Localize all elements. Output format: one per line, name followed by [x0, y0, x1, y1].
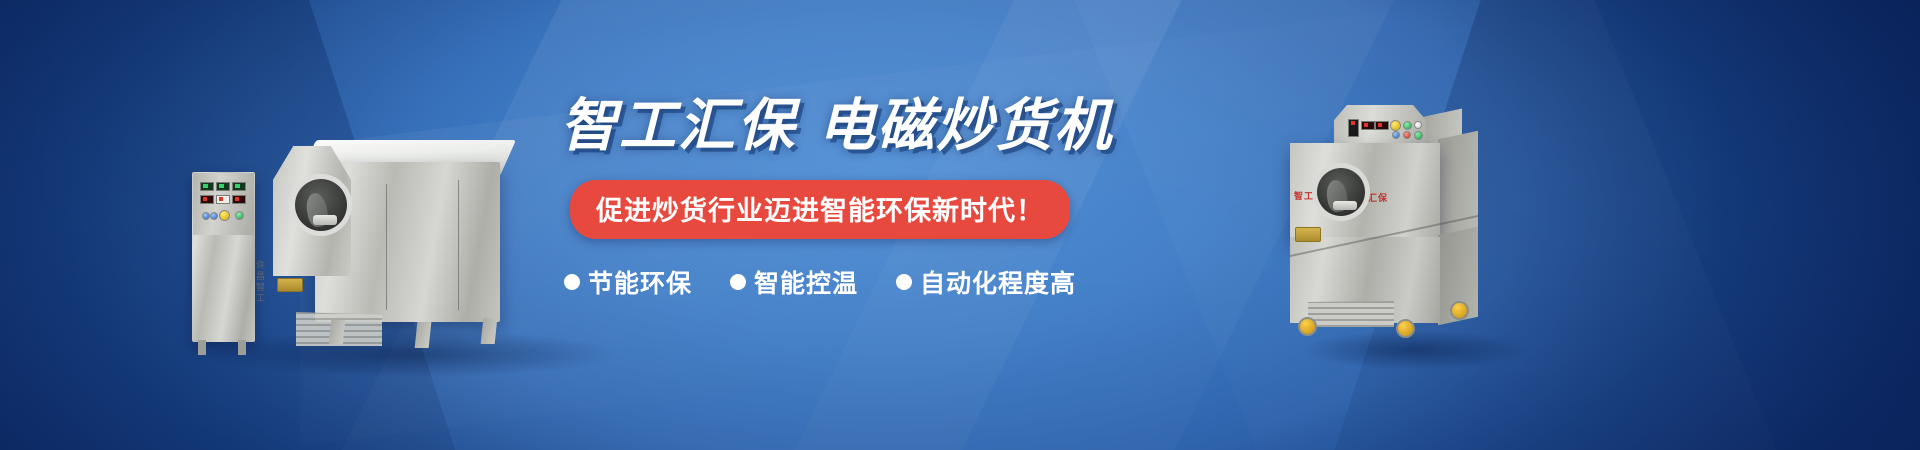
panel-display-4	[200, 195, 214, 204]
right-panel-emergency-knob	[1390, 120, 1401, 131]
feature-list: 节能环保 智能控温 自动化程度高	[560, 264, 1080, 300]
feature-item: 节能环保	[564, 264, 692, 300]
bullet-dot-icon	[564, 274, 580, 290]
panel-display-3	[232, 182, 246, 191]
panel-display-5	[216, 195, 230, 204]
feature-label: 自动化程度高	[920, 264, 1076, 300]
feature-label: 智能控温	[754, 264, 858, 300]
left-cabinet-leg-2	[238, 340, 246, 355]
panel-emergency-knob	[219, 210, 230, 221]
left-machine-drum-pan	[313, 215, 337, 225]
right-machine-photo: 智工 汇保	[1290, 105, 1510, 355]
bullet-dot-icon	[730, 274, 746, 290]
right-machine-control-housing	[1334, 105, 1426, 145]
left-machine-door-seam-1	[386, 184, 387, 310]
right-machine-vents	[1308, 301, 1394, 327]
right-machine-body-side	[1438, 131, 1478, 244]
left-machine-foot-3	[481, 318, 498, 344]
panel-button-blue-1	[202, 212, 210, 220]
bullet-dot-icon	[896, 274, 912, 290]
promo-banner: 智工 汇保 许昌智工 智工汇保电磁炒货机	[0, 0, 1920, 450]
feature-item: 智能控温	[730, 264, 858, 300]
left-machine-foot-2	[415, 322, 432, 348]
left-machine-drum-opening	[290, 174, 352, 236]
feature-label: 节能环保	[588, 264, 692, 300]
right-machine-drum-opening	[1312, 163, 1370, 221]
right-panel-display-main	[1348, 119, 1359, 137]
panel-display-1	[200, 182, 214, 191]
left-machine-door-seam-2	[458, 180, 459, 310]
right-machine-nameplate	[1295, 227, 1321, 242]
headline-part-2: 电磁炒货机	[818, 94, 1113, 158]
headline-part-1: 智工汇保	[560, 94, 796, 158]
right-machine-caster-3	[1450, 301, 1469, 320]
right-panel-button-blue-1	[1392, 131, 1400, 139]
right-machine-brand-left: 智工	[1294, 189, 1314, 202]
left-machine-nameplate	[277, 278, 303, 292]
right-panel-button-green-2	[1414, 131, 1423, 140]
right-panel-button-white	[1414, 121, 1422, 129]
right-panel-button-green-1	[1403, 121, 1412, 130]
right-machine-caster-2	[1396, 319, 1415, 338]
right-machine-drum-interior	[1317, 168, 1365, 216]
left-machine-photo: 智工 汇保 许昌智工	[180, 100, 600, 360]
feature-item: 自动化程度高	[896, 264, 1076, 300]
right-panel-display-2	[1375, 121, 1389, 130]
page-title: 智工汇保电磁炒货机	[560, 96, 1080, 158]
left-machine-cabinet-text: 许昌智工	[254, 260, 267, 304]
right-machine-brand-right: 汇保	[1368, 191, 1388, 204]
subtitle-ribbon: 促进炒货行业迈进智能环保新时代！	[570, 180, 1070, 239]
panel-button-blue-2	[210, 212, 218, 220]
panel-button-green	[235, 211, 244, 220]
banner-copy: 智工汇保电磁炒货机 促进炒货行业迈进智能环保新时代！ 节能环保 智能控温 自动化…	[560, 96, 1080, 300]
right-machine-caster-1	[1298, 317, 1317, 336]
right-panel-display-1	[1361, 121, 1375, 130]
panel-display-2	[216, 182, 230, 191]
left-machine-foot-1	[329, 320, 346, 344]
left-machine-drum-interior	[295, 179, 347, 231]
left-cabinet-leg-1	[198, 340, 206, 355]
panel-display-6	[232, 195, 246, 204]
right-panel-button-red	[1403, 131, 1411, 139]
right-machine-drum-pan	[1333, 201, 1357, 210]
